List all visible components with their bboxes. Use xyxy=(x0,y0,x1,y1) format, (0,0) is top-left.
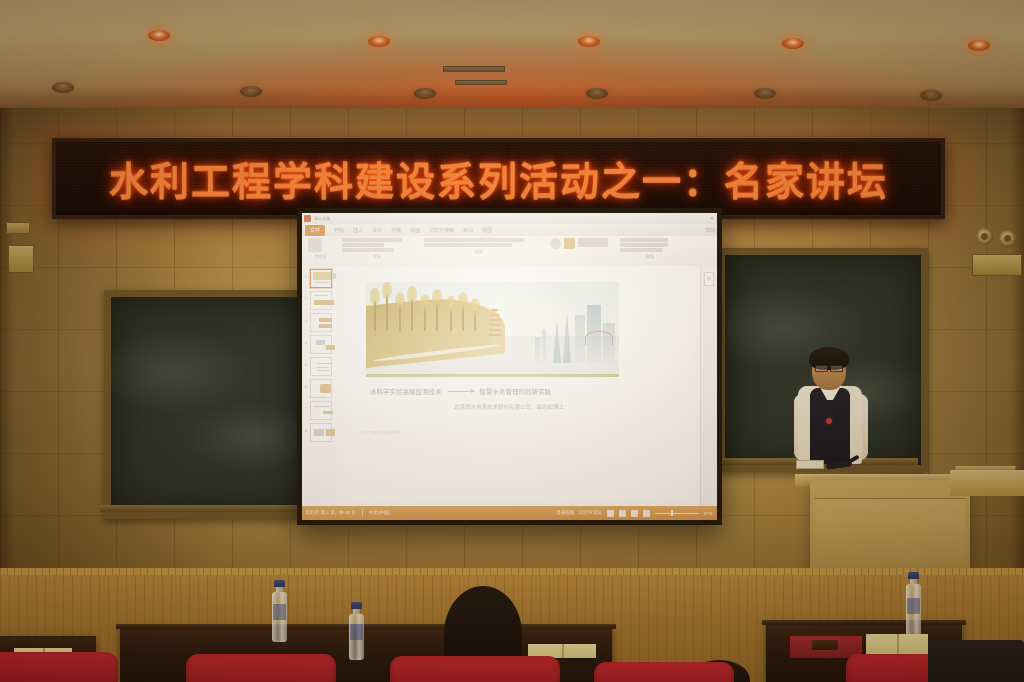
open-notebook xyxy=(866,634,928,654)
wall-shadow-left xyxy=(0,108,14,578)
tab-transition[interactable]: 切换 xyxy=(391,227,401,234)
tab-home[interactable]: 开始 xyxy=(334,227,344,234)
ceiling-light-icon xyxy=(368,36,390,47)
ceiling-light-icon xyxy=(920,90,942,101)
ribbon-group-editing: 编辑 xyxy=(620,254,680,260)
slide-title: 水科学实验高端监测技术 智慧水务管理的创新实践 xyxy=(370,386,620,396)
slide-thumbnail[interactable]: 4 xyxy=(310,335,332,354)
slide-thumbnail[interactable]: 8 xyxy=(310,423,332,442)
led-banner-text: 水利工程学科建设系列活动之一：名家讲坛 xyxy=(109,151,888,207)
thumbnail-number: 1 xyxy=(305,274,307,279)
desk-edge xyxy=(116,624,616,629)
paragraph-row-2[interactable] xyxy=(424,243,512,247)
ceiling-light-icon xyxy=(414,88,436,99)
zoom-slider[interactable] xyxy=(655,513,699,514)
water-bottle xyxy=(349,602,364,660)
slide-subtitle: 北京尚水信息技术股份有限公司 曲兆松博士 xyxy=(454,403,564,411)
slide-footnote: 水利工程学科建设系列 xyxy=(360,430,400,436)
paste-icon[interactable] xyxy=(308,238,322,252)
ceiling xyxy=(0,0,1024,112)
side-desk xyxy=(950,470,1024,496)
find-button[interactable] xyxy=(620,238,668,242)
wall-panel-right xyxy=(972,254,1022,276)
projection-screen: 演示文稿 ✕ 文件 开始 插入 设计 切换 动画 幻灯片放映 审阅 视图 帮助 … xyxy=(297,208,722,525)
glasses-icon xyxy=(815,365,843,370)
paragraph-row-1[interactable] xyxy=(424,238,524,242)
auditorium-seat xyxy=(594,662,734,682)
shapes-icon[interactable] xyxy=(550,238,561,249)
wps-status-bar: 幻灯片 第 1 页，共 46 页 中文(中国) 普通视图 幻灯片浏览 57% ⛶ xyxy=(302,506,717,520)
auditorium-seat xyxy=(0,652,118,682)
chalkboard-left xyxy=(104,290,323,519)
ceiling-light-icon xyxy=(578,36,600,47)
right-task-pane[interactable]: 窗 xyxy=(700,266,717,506)
wall-fixture-left xyxy=(6,222,30,234)
tab-animation[interactable]: 动画 xyxy=(410,227,420,234)
arrange-icon[interactable] xyxy=(564,238,575,249)
ceiling-light-icon xyxy=(148,30,170,41)
auditorium-seat xyxy=(390,656,560,682)
ceiling-light-icon xyxy=(968,40,990,51)
wps-ribbon-tabs: 文件 开始 插入 设计 切换 动画 幻灯片放映 审阅 视图 帮助 xyxy=(302,224,717,236)
font-style-row[interactable] xyxy=(342,248,394,252)
slide-thumbnail-panel[interactable]: 1 2 3 4 xyxy=(302,266,337,506)
thumbnail-number: 7 xyxy=(305,406,307,411)
wall-panel-left xyxy=(8,245,34,273)
slide-thumbnail[interactable]: 1 xyxy=(310,269,332,288)
ceiling-light-icon xyxy=(586,88,608,99)
thumbnail-number: 4 xyxy=(305,340,307,345)
select-button[interactable] xyxy=(620,248,662,252)
ceiling-vent xyxy=(443,66,505,72)
ceiling-light-icon xyxy=(240,86,262,97)
ribbon-group-paragraph: 段落 xyxy=(424,249,534,255)
slideshow-icon[interactable] xyxy=(643,510,650,517)
slide-thumbnail[interactable]: 5 xyxy=(310,357,332,376)
ceiling-light-icon xyxy=(782,38,804,49)
led-banner: 水利工程学科建设系列活动之一：名家讲坛 xyxy=(52,138,945,219)
ceiling-light-icon xyxy=(52,82,74,93)
tab-insert[interactable]: 插入 xyxy=(353,227,363,234)
speaker-badge xyxy=(826,418,832,424)
quick-styles[interactable] xyxy=(578,238,608,247)
replace-button[interactable] xyxy=(620,243,668,247)
thumbnail-number: 2 xyxy=(305,296,307,301)
wall-speaker-icon xyxy=(976,228,993,245)
wps-ribbon: 剪贴板 字体 段落 xyxy=(302,236,717,267)
thumbnail-number: 8 xyxy=(305,428,307,433)
slide-thumbnail[interactable]: 6 xyxy=(310,379,332,398)
arrow-icon xyxy=(448,391,474,392)
slide-canvas[interactable]: 水科学实验高端监测技术 智慧水务管理的创新实践 北京尚水信息技术股份有限公司 曲… xyxy=(336,266,701,506)
chalk-ledge-left xyxy=(100,505,313,512)
tab-review[interactable]: 审阅 xyxy=(463,227,473,234)
status-language[interactable]: 中文(中国) xyxy=(369,510,390,516)
slide-title-right: 智慧水务管理的创新实践 xyxy=(480,386,552,396)
wall-shadow-right xyxy=(1010,108,1024,578)
wall-speaker-icon xyxy=(999,230,1016,247)
status-view-sorter[interactable]: 幻灯片浏览 xyxy=(579,510,602,516)
thumbnail-number: 3 xyxy=(305,318,307,323)
slide-thumbnail[interactable]: 7 xyxy=(310,401,332,420)
lecture-hall-photo: 水利工程学科建设系列活动之一：名家讲坛 演示文稿 ✕ 文件 开始 插入 设计 切… xyxy=(0,0,1024,682)
tab-view[interactable]: 视图 xyxy=(482,227,492,234)
zoom-level: 57% xyxy=(704,511,713,516)
slide-title-left: 水科学实验高端监测技术 xyxy=(370,386,442,396)
wps-logo-icon xyxy=(304,215,311,222)
podium-laptop xyxy=(796,460,824,469)
ceiling-light-icon xyxy=(754,88,776,99)
thumbnail-number: 6 xyxy=(305,384,307,389)
status-slide-count: 幻灯片 第 1 页，共 46 页 xyxy=(306,510,356,516)
slide-thumbnail[interactable]: 3 xyxy=(310,313,332,332)
projected-image: 演示文稿 ✕ 文件 开始 插入 设计 切换 动画 幻灯片放映 审阅 视图 帮助 … xyxy=(302,213,717,520)
podium xyxy=(810,480,970,580)
bridge-icon xyxy=(585,331,613,345)
thumbnail-number: 5 xyxy=(305,362,307,367)
close-icon[interactable]: ✕ xyxy=(710,216,714,222)
pane-toggle-button[interactable]: 窗 xyxy=(704,272,714,286)
tab-file[interactable]: 文件 xyxy=(305,225,325,236)
ribbon-group-font: 字体 xyxy=(342,254,412,260)
water-bottle xyxy=(906,572,921,640)
dark-bag xyxy=(928,640,1024,682)
pagoda-icon xyxy=(488,307,502,341)
auditorium-seat xyxy=(186,654,336,682)
reading-view-icon[interactable] xyxy=(631,510,638,517)
tab-slideshow[interactable]: 幻灯片放映 xyxy=(429,227,454,234)
ceiling-vent xyxy=(455,80,507,85)
ribbon-group-clipboard: 剪贴板 xyxy=(308,254,334,260)
view-sorter-icon[interactable] xyxy=(619,510,626,517)
desk-edge xyxy=(762,620,966,625)
font-name-box[interactable] xyxy=(342,238,402,242)
wps-window-title: 演示文稿 xyxy=(314,216,330,222)
speaker-person xyxy=(788,350,874,485)
font-size-box[interactable] xyxy=(342,243,384,247)
view-normal-icon[interactable] xyxy=(607,510,614,517)
tab-design[interactable]: 设计 xyxy=(372,227,382,234)
slide-thumbnail[interactable]: 2 xyxy=(310,291,332,310)
water-bottle xyxy=(272,580,287,642)
city-skyline xyxy=(533,291,619,363)
status-view-normal[interactable]: 普通视图 xyxy=(556,510,574,516)
slide-artwork xyxy=(366,282,619,377)
help-label[interactable]: 帮助 xyxy=(706,227,716,234)
